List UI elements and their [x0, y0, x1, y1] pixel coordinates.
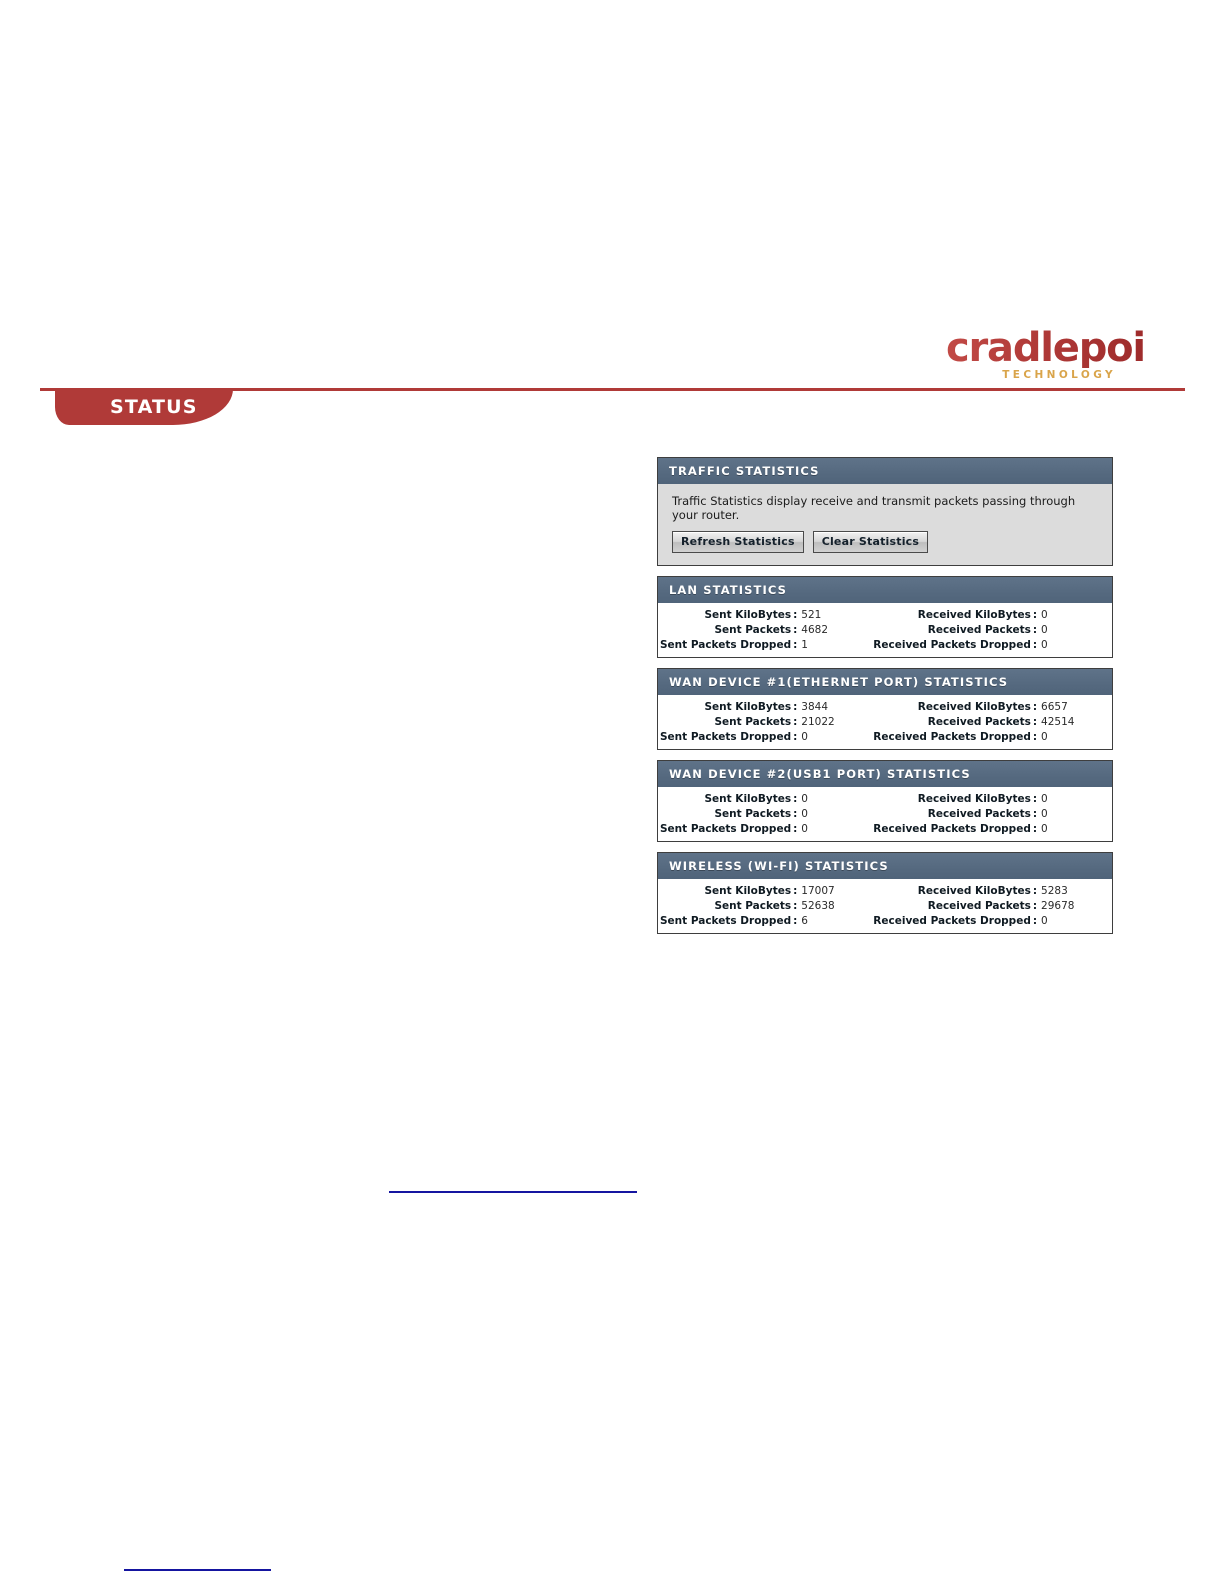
lan-statistics-panel: LAN STATISTICS Sent KiloBytes : 521 Sent… — [657, 576, 1113, 658]
wan1-statistics-header: WAN DEVICE #1(ETHERNET PORT) STATISTICS — [658, 669, 1112, 695]
wan2-statistics-panel: WAN DEVICE #2(USB1 PORT) STATISTICS Sent… — [657, 760, 1113, 842]
stat-colon: : — [791, 700, 801, 715]
stat-label: Sent Packets Dropped — [660, 730, 791, 745]
stat-value: 52638 — [801, 899, 873, 914]
stat-row: Sent Packets Dropped : 0 — [660, 730, 873, 745]
stat-value: 0 — [1041, 807, 1113, 822]
wan2-received-column: Received KiloBytes : 0 Received Packets … — [873, 792, 1113, 837]
stat-value: 0 — [1041, 730, 1113, 745]
lan-statistics-grid: Sent KiloBytes : 521 Sent Packets : 4682… — [658, 603, 1112, 657]
stat-row: Sent KiloBytes : 3844 — [660, 700, 873, 715]
stat-value: 3844 — [801, 700, 873, 715]
lan-received-column: Received KiloBytes : 0 Received Packets … — [873, 608, 1113, 653]
stat-value: 0 — [1041, 623, 1113, 638]
stat-label: Received KiloBytes — [873, 700, 1031, 715]
wireless-statistics-header: WIRELESS (WI-FI) STATISTICS — [658, 853, 1112, 879]
stat-value: 4682 — [801, 623, 873, 638]
wan2-statistics-grid: Sent KiloBytes : 0 Sent Packets : 0 Sent… — [658, 787, 1112, 841]
stat-value: 0 — [801, 730, 873, 745]
stat-label: Received Packets — [873, 623, 1031, 638]
stat-row: Sent Packets Dropped : 0 — [660, 822, 873, 837]
stat-value: 0 — [1041, 822, 1113, 837]
stat-label: Received KiloBytes — [873, 608, 1031, 623]
stat-value: 0 — [1041, 608, 1113, 623]
stat-colon: : — [791, 730, 801, 745]
stat-label: Sent KiloBytes — [660, 792, 791, 807]
stat-value: 0 — [1041, 792, 1113, 807]
stat-colon: : — [791, 792, 801, 807]
stat-row: Sent Packets : 0 — [660, 807, 873, 822]
traffic-statistics-description: Traffic Statistics display receive and t… — [672, 494, 1102, 522]
stat-value: 0 — [801, 822, 873, 837]
stat-value: 1 — [801, 638, 873, 653]
stat-row: Sent KiloBytes : 0 — [660, 792, 873, 807]
stat-row: Received KiloBytes : 0 — [873, 792, 1113, 807]
stat-colon: : — [1031, 807, 1041, 822]
stat-colon: : — [791, 608, 801, 623]
stat-row: Received Packets Dropped : 0 — [873, 730, 1113, 745]
traffic-statistics-actions: Refresh Statistics Clear Statistics — [672, 531, 1102, 553]
stat-value: 0 — [1041, 914, 1113, 929]
stat-row: Sent KiloBytes : 17007 — [660, 884, 873, 899]
wireless-sent-column: Sent KiloBytes : 17007 Sent Packets : 52… — [660, 884, 873, 929]
stat-row: Received Packets : 0 — [873, 807, 1113, 822]
stat-colon: : — [791, 623, 801, 638]
wan1-statistics-panel: WAN DEVICE #1(ETHERNET PORT) STATISTICS … — [657, 668, 1113, 750]
stat-colon: : — [1031, 914, 1041, 929]
lan-statistics-header: LAN STATISTICS — [658, 577, 1112, 603]
stat-value: 0 — [1041, 638, 1113, 653]
stat-colon: : — [791, 822, 801, 837]
stat-row: Sent Packets Dropped : 1 — [660, 638, 873, 653]
stat-label: Received KiloBytes — [873, 884, 1031, 899]
stat-row: Received Packets Dropped : 0 — [873, 638, 1113, 653]
stat-row: Sent Packets : 4682 — [660, 623, 873, 638]
stat-row: Received KiloBytes : 5283 — [873, 884, 1113, 899]
stat-colon: : — [1031, 608, 1041, 623]
stat-value: 0 — [801, 792, 873, 807]
stat-colon: : — [791, 899, 801, 914]
stat-value: 29678 — [1041, 899, 1113, 914]
wireless-statistics-panel: WIRELESS (WI-FI) STATISTICS Sent KiloByt… — [657, 852, 1113, 934]
stat-row: Received Packets Dropped : 0 — [873, 822, 1113, 837]
stat-label: Received Packets — [873, 715, 1031, 730]
stat-label: Sent Packets Dropped — [660, 914, 791, 929]
stat-colon: : — [791, 914, 801, 929]
stat-row: Sent Packets : 52638 — [660, 899, 873, 914]
wireless-statistics-grid: Sent KiloBytes : 17007 Sent Packets : 52… — [658, 879, 1112, 933]
stat-value: 42514 — [1041, 715, 1113, 730]
stat-colon: : — [1031, 623, 1041, 638]
stat-value: 17007 — [801, 884, 873, 899]
stat-row: Sent Packets : 21022 — [660, 715, 873, 730]
stat-label: Received Packets Dropped — [873, 730, 1031, 745]
stat-row: Received KiloBytes : 6657 — [873, 700, 1113, 715]
stat-value: 6657 — [1041, 700, 1113, 715]
stat-label: Received Packets Dropped — [873, 822, 1031, 837]
stat-colon: : — [1031, 715, 1041, 730]
stat-label: Sent KiloBytes — [660, 884, 791, 899]
clear-statistics-button[interactable]: Clear Statistics — [813, 531, 928, 553]
wan2-sent-column: Sent KiloBytes : 0 Sent Packets : 0 Sent… — [660, 792, 873, 837]
stat-colon: : — [1031, 638, 1041, 653]
stat-label: Sent KiloBytes — [660, 700, 791, 715]
stat-colon: : — [791, 884, 801, 899]
wan2-statistics-header: WAN DEVICE #2(USB1 PORT) STATISTICS — [658, 761, 1112, 787]
body-hyperlink[interactable] — [389, 1178, 637, 1193]
stat-label: Received Packets Dropped — [873, 914, 1031, 929]
stat-label: Received KiloBytes — [873, 792, 1031, 807]
stat-colon: : — [791, 807, 801, 822]
stat-colon: : — [791, 638, 801, 653]
stat-value: 0 — [801, 807, 873, 822]
traffic-statistics-panel: TRAFFIC STATISTICS Traffic Statistics di… — [657, 457, 1113, 566]
stat-value: 5283 — [1041, 884, 1113, 899]
stat-value: 6 — [801, 914, 873, 929]
stat-row: Received KiloBytes : 0 — [873, 608, 1113, 623]
section-tab-status: STATUS — [55, 389, 233, 425]
router-status-panels: TRAFFIC STATISTICS Traffic Statistics di… — [657, 457, 1113, 944]
stat-label: Sent Packets Dropped — [660, 822, 791, 837]
stat-label: Received Packets — [873, 899, 1031, 914]
stat-label: Sent Packets — [660, 899, 791, 914]
traffic-statistics-body: Traffic Statistics display receive and t… — [658, 484, 1112, 565]
stat-label: Sent Packets Dropped — [660, 638, 791, 653]
stat-colon: : — [1031, 730, 1041, 745]
stat-row: Sent Packets Dropped : 6 — [660, 914, 873, 929]
stat-label: Received Packets Dropped — [873, 638, 1031, 653]
stat-colon: : — [1031, 792, 1041, 807]
stat-label: Sent Packets — [660, 807, 791, 822]
traffic-statistics-header: TRAFFIC STATISTICS — [658, 458, 1112, 484]
stat-colon: : — [1031, 884, 1041, 899]
stat-row: Received Packets Dropped : 0 — [873, 914, 1113, 929]
stat-label: Received Packets — [873, 807, 1031, 822]
stat-label: Sent Packets — [660, 623, 791, 638]
stat-label: Sent KiloBytes — [660, 608, 791, 623]
stat-value: 521 — [801, 608, 873, 623]
footnote-separator — [124, 1569, 271, 1571]
stat-colon: : — [1031, 899, 1041, 914]
brand-logo: cradlepoint TECHNOLOGY — [946, 328, 1146, 381]
section-tab-label: STATUS — [110, 396, 198, 418]
stat-row: Received Packets : 29678 — [873, 899, 1113, 914]
stat-colon: : — [1031, 700, 1041, 715]
stat-label: Sent Packets — [660, 715, 791, 730]
stat-colon: : — [791, 715, 801, 730]
stat-row: Received Packets : 0 — [873, 623, 1113, 638]
stat-row: Received Packets : 42514 — [873, 715, 1113, 730]
wireless-received-column: Received KiloBytes : 5283 Received Packe… — [873, 884, 1113, 929]
stat-row: Sent KiloBytes : 521 — [660, 608, 873, 623]
lan-sent-column: Sent KiloBytes : 521 Sent Packets : 4682… — [660, 608, 873, 653]
stat-colon: : — [1031, 822, 1041, 837]
wan1-statistics-grid: Sent KiloBytes : 3844 Sent Packets : 210… — [658, 695, 1112, 749]
wan1-sent-column: Sent KiloBytes : 3844 Sent Packets : 210… — [660, 700, 873, 745]
stat-value: 21022 — [801, 715, 873, 730]
brand-wordmark: cradlepoint — [946, 328, 1146, 368]
refresh-statistics-button[interactable]: Refresh Statistics — [672, 531, 804, 553]
wan1-received-column: Received KiloBytes : 6657 Received Packe… — [873, 700, 1113, 745]
